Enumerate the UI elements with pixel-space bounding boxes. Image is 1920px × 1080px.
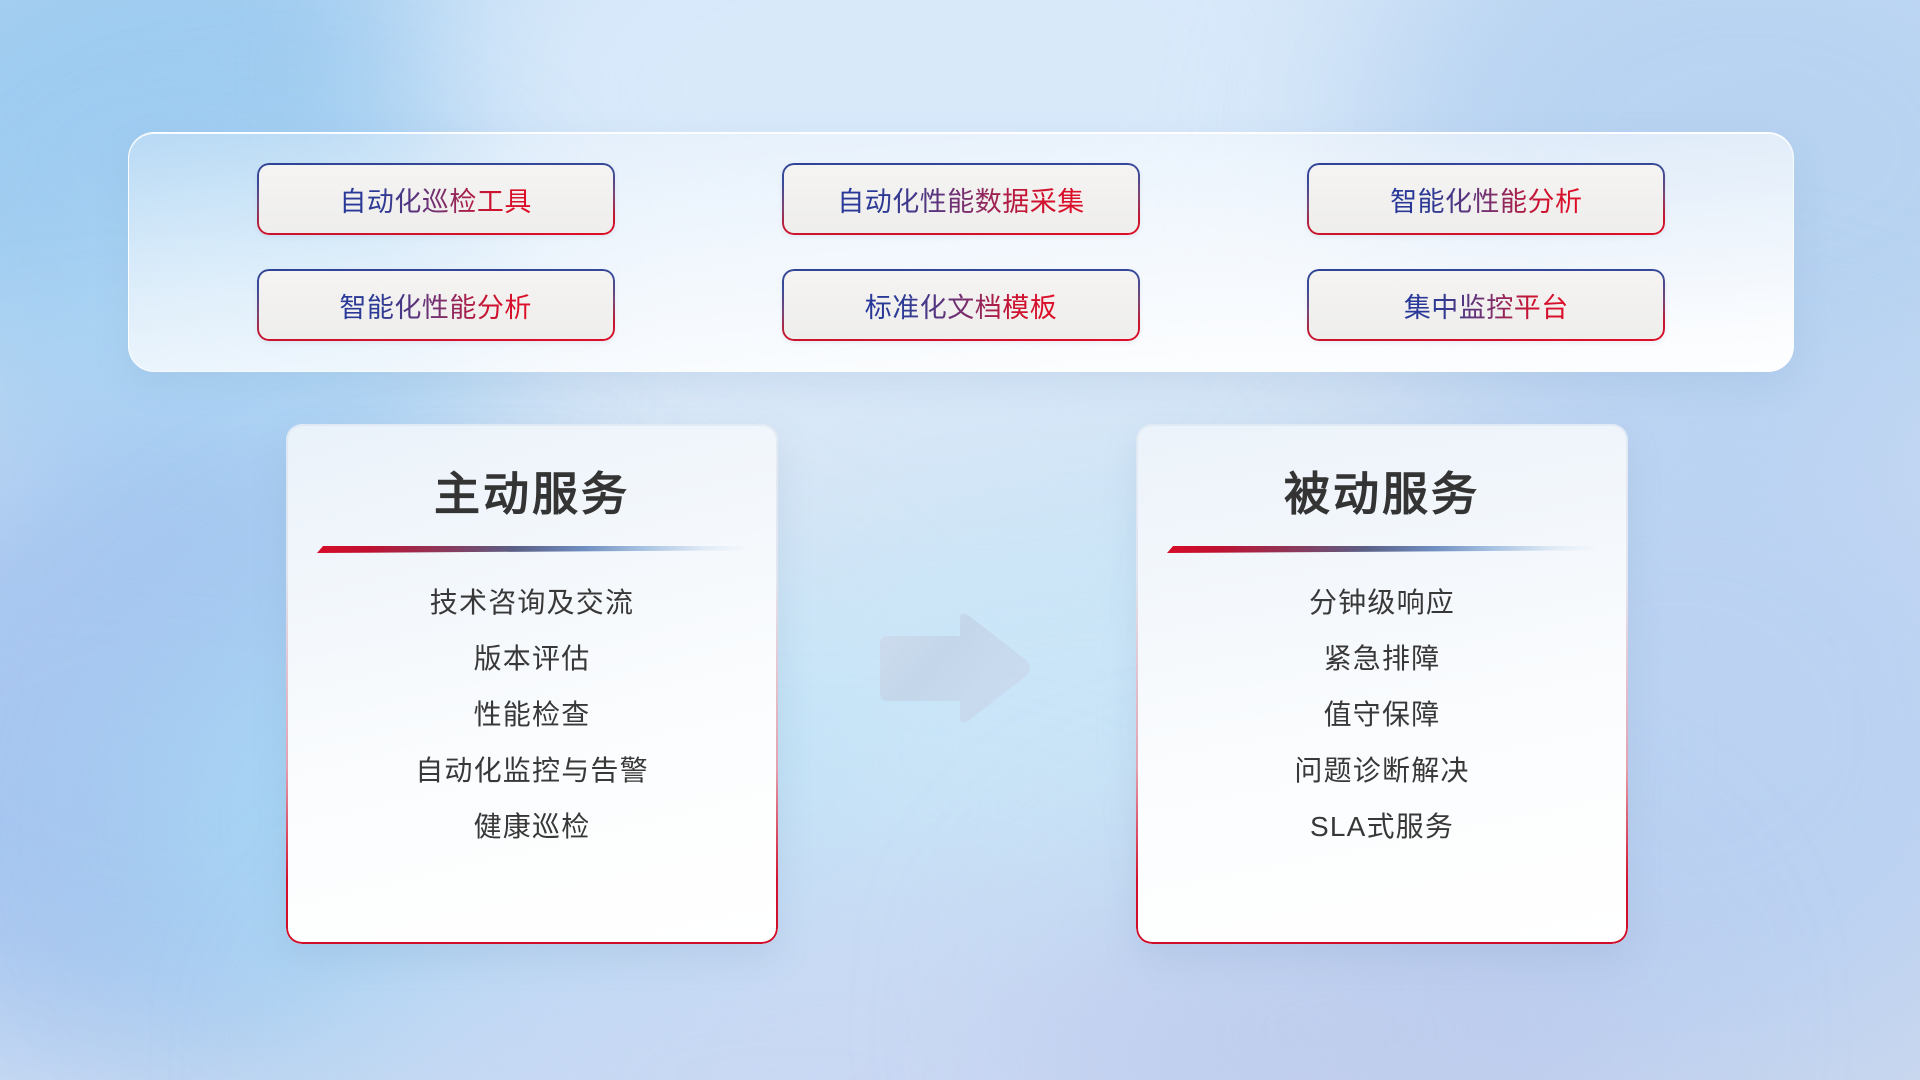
capability-pill-4[interactable]: 智能化性能分析 xyxy=(257,269,615,341)
title-divider xyxy=(317,546,747,553)
list-item: 健康巡检 xyxy=(474,809,591,844)
capability-panel: 自动化巡检工具 自动化性能数据采集 智能化性能分析 智能化性能分析 标准化文档模… xyxy=(128,132,1794,372)
capability-pill-label: 智能化性能分析 xyxy=(339,286,532,325)
proactive-card-title: 主动服务 xyxy=(286,458,778,524)
capability-pill-6[interactable]: 集中监控平台 xyxy=(1307,269,1665,341)
proactive-service-card[interactable]: 主动服务 技术咨询及交流 版本评估 性能检查 自动化监控与告警 健康巡检 xyxy=(286,424,778,944)
capability-pill-label: 自动化巡检工具 xyxy=(339,180,532,219)
list-item: 紧急排障 xyxy=(1324,641,1441,676)
capability-pill-label: 集中监控平台 xyxy=(1404,286,1569,325)
diagram-stage: 自动化巡检工具 自动化性能数据采集 智能化性能分析 智能化性能分析 标准化文档模… xyxy=(0,0,1920,1080)
proactive-service-list: 技术咨询及交流 版本评估 性能检查 自动化监控与告警 健康巡检 xyxy=(286,585,778,844)
capability-pill-label: 自动化性能数据采集 xyxy=(837,180,1085,219)
capability-pill-2[interactable]: 自动化性能数据采集 xyxy=(782,163,1140,235)
reactive-card-title: 被动服务 xyxy=(1136,458,1628,524)
capability-pill-label: 智能化性能分析 xyxy=(1390,180,1583,219)
list-item: 自动化监控与告警 xyxy=(415,753,649,788)
list-item: 技术咨询及交流 xyxy=(430,585,634,620)
list-item: 分钟级响应 xyxy=(1309,585,1455,620)
list-item: 值守保障 xyxy=(1324,697,1441,732)
capability-pill-label: 标准化文档模板 xyxy=(865,286,1058,325)
title-divider xyxy=(1167,546,1597,553)
list-item: 性能检查 xyxy=(474,697,591,732)
capability-pill-1[interactable]: 自动化巡检工具 xyxy=(257,163,615,235)
right-arrow-icon xyxy=(872,608,1034,730)
reactive-service-list: 分钟级响应 紧急排障 值守保障 问题诊断解决 SLA式服务 xyxy=(1136,585,1628,844)
list-item: 问题诊断解决 xyxy=(1294,753,1469,788)
reactive-service-card[interactable]: 被动服务 分钟级响应 紧急排障 值守保障 问题诊断解决 SLA式服务 xyxy=(1136,424,1628,944)
list-item: SLA式服务 xyxy=(1310,809,1454,844)
capability-pill-3[interactable]: 智能化性能分析 xyxy=(1307,163,1665,235)
list-item: 版本评估 xyxy=(474,641,591,676)
capability-pill-5[interactable]: 标准化文档模板 xyxy=(782,269,1140,341)
